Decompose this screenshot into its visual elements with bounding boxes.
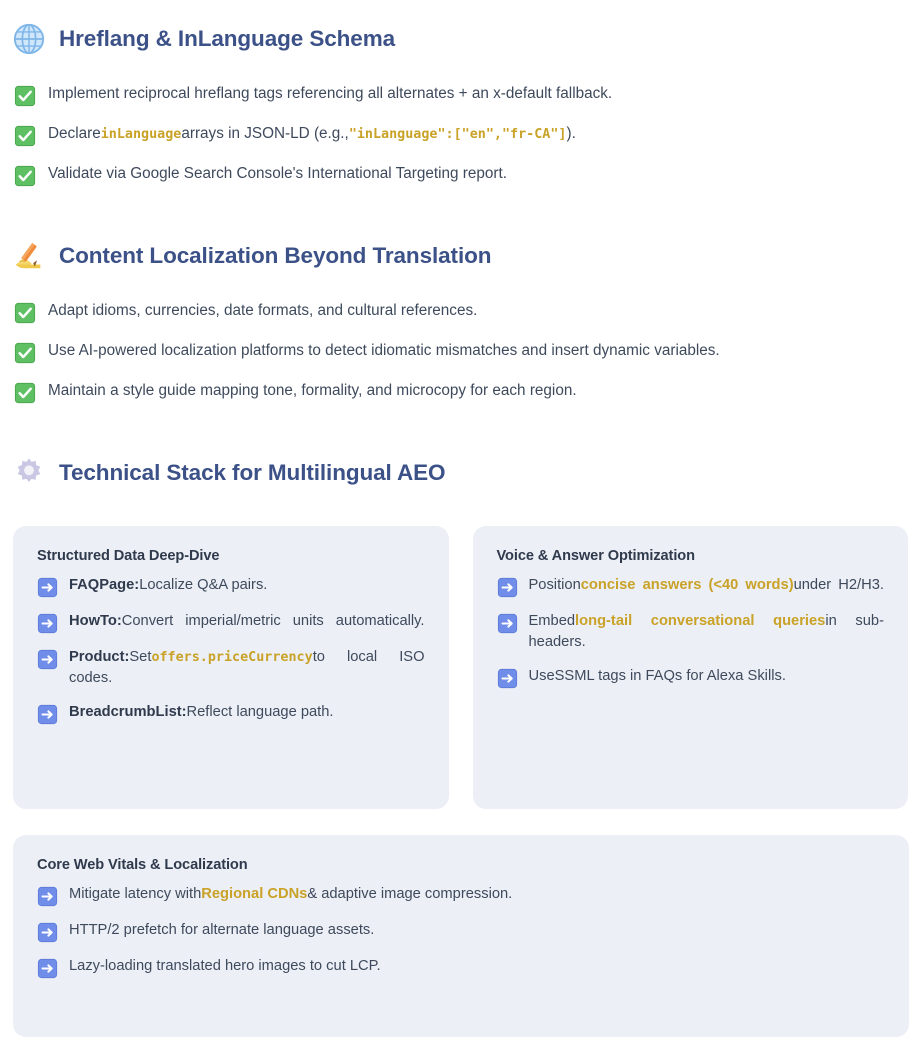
card-title: Structured Data Deep-Dive	[37, 548, 425, 564]
item-label: HowTo:	[69, 613, 122, 629]
check-mark-icon	[14, 125, 36, 147]
text-fragment: arrays in JSON-LD (e.g.,	[181, 125, 348, 142]
card-structured-data: Structured Data Deep-Dive FAQPage:Locali…	[13, 526, 449, 809]
arrow-right-icon	[497, 668, 518, 689]
list-item-label: Embedlong-tail conversational queriesin …	[529, 611, 885, 653]
gear-icon	[12, 456, 46, 490]
list-item-label: Validate via Google Search Console's Int…	[48, 164, 507, 185]
text-fragment: SSML tags in FAQs for Alexa Skills.	[555, 668, 786, 684]
check-mark-icon	[14, 342, 36, 364]
code-token: offers.priceCurrency	[151, 650, 312, 665]
list-item-label: Positionconcise answers (<40 words)under…	[529, 575, 885, 596]
list-item: Maintain a style guide mapping tone, for…	[0, 381, 921, 404]
list-item: Mitigate latency withRegional CDNs& adap…	[37, 884, 885, 907]
card-voice-answer-optimization: Voice & Answer Optimization Positionconc…	[473, 526, 909, 809]
list-item-label: HowTo:Convert imperial/metric units auto…	[69, 611, 425, 632]
document-body: Hreflang & InLanguage Schema Implement r…	[0, 8, 921, 1037]
text-fragment: Mitigate latency with	[69, 886, 201, 902]
card-title: Voice & Answer Optimization	[497, 548, 885, 564]
list-item: Implement reciprocal hreflang tags refer…	[0, 84, 921, 107]
section-title: Technical Stack for Multilingual AEO	[59, 461, 445, 486]
section-header-localization: Content Localization Beyond Translation	[0, 225, 921, 287]
list-item-label: BreadcrumbList:Reflect language path.	[69, 702, 425, 723]
list-item-label: Maintain a style guide mapping tone, for…	[48, 381, 577, 402]
item-text: Localize Q&A pairs.	[139, 577, 267, 593]
card-title: Core Web Vitals & Localization	[37, 857, 885, 873]
arrow-right-icon	[37, 577, 58, 598]
item-label: BreadcrumbList:	[69, 704, 187, 720]
checklist-localization: Adapt idioms, currencies, date formats, …	[0, 301, 921, 404]
highlight-text: long-tail conversational queries	[575, 613, 825, 629]
checklist-hreflang: Implement reciprocal hreflang tags refer…	[0, 84, 921, 187]
list-item: BreadcrumbList:Reflect language path.	[37, 702, 425, 725]
code-token: "inLanguage":["en","fr-CA"]	[349, 127, 567, 142]
arrow-right-icon	[37, 958, 58, 979]
list-item-label: DeclareinLanguagearrays in JSON-LD (e.g.…	[48, 124, 576, 145]
item-text: Reflect language path.	[187, 704, 334, 720]
text-fragment: ).	[566, 125, 575, 142]
list-item-label: Lazy-loading translated hero images to c…	[69, 956, 885, 977]
check-mark-icon	[14, 302, 36, 324]
list-item: Positionconcise answers (<40 words)under…	[497, 575, 885, 598]
list-item: Validate via Google Search Console's Int…	[0, 164, 921, 187]
list-item-label: UseSSML tags in FAQs for Alexa Skills.	[529, 666, 885, 687]
arrow-right-icon	[497, 613, 518, 634]
list-item-label: Use AI-powered localization platforms to…	[48, 341, 720, 362]
highlight-text: Regional CDNs	[201, 886, 307, 902]
list-item: Embedlong-tail conversational queriesin …	[497, 611, 885, 653]
list-item-label: Product:Setoffers.priceCurrencyto local …	[69, 647, 425, 689]
list-item-label: Adapt idioms, currencies, date formats, …	[48, 301, 477, 322]
highlight-text: concise answers (<40 words)	[581, 577, 794, 593]
arrow-right-icon	[37, 704, 58, 725]
card-core-web-vitals: Core Web Vitals & Localization Mitigate …	[13, 835, 909, 1037]
item-label: FAQPage:	[69, 577, 139, 593]
arrow-right-icon	[37, 886, 58, 907]
text-fragment: Declare	[48, 125, 101, 142]
check-mark-icon	[14, 85, 36, 107]
section-header-technical-stack: Technical Stack for Multilingual AEO	[0, 442, 921, 504]
list-item: FAQPage:Localize Q&A pairs.	[37, 575, 425, 598]
arrow-right-icon	[37, 649, 58, 670]
list-item: UseSSML tags in FAQs for Alexa Skills.	[497, 666, 885, 689]
text-fragment: Set	[129, 649, 151, 665]
text-fragment: under H2/H3.	[794, 577, 884, 593]
list-item: Adapt idioms, currencies, date formats, …	[0, 301, 921, 324]
text-fragment: Use	[529, 668, 555, 684]
item-text: Convert imperial/metric units automatica…	[122, 613, 425, 629]
list-item: Lazy-loading translated hero images to c…	[37, 956, 885, 979]
list-item-label: FAQPage:Localize Q&A pairs.	[69, 575, 425, 596]
list-item: DeclareinLanguagearrays in JSON-LD (e.g.…	[0, 124, 921, 147]
check-mark-icon	[14, 165, 36, 187]
list-item: HTTP/2 prefetch for alternate language a…	[37, 920, 885, 943]
text-fragment: Position	[529, 577, 581, 593]
card-row: Structured Data Deep-Dive FAQPage:Locali…	[0, 526, 921, 809]
check-mark-icon	[14, 382, 36, 404]
text-fragment: & adaptive image compression.	[307, 886, 512, 902]
arrow-right-icon	[37, 922, 58, 943]
globe-icon	[12, 22, 46, 56]
text-fragment: Embed	[529, 613, 576, 629]
item-label: Product:	[69, 649, 129, 665]
section-title: Content Localization Beyond Translation	[59, 244, 491, 269]
list-item: Product:Setoffers.priceCurrencyto local …	[37, 647, 425, 689]
list-item: HowTo:Convert imperial/metric units auto…	[37, 611, 425, 634]
writing-hand-icon	[12, 239, 46, 273]
list-item-label: HTTP/2 prefetch for alternate language a…	[69, 920, 885, 941]
code-token: inLanguage	[101, 127, 182, 142]
arrow-right-icon	[497, 577, 518, 598]
page-title: Hreflang & InLanguage Schema	[59, 27, 395, 52]
arrow-right-icon	[37, 613, 58, 634]
list-item-label: Mitigate latency withRegional CDNs& adap…	[69, 884, 885, 905]
section-header-hreflang: Hreflang & InLanguage Schema	[0, 8, 921, 70]
list-item-label: Implement reciprocal hreflang tags refer…	[48, 84, 612, 105]
list-item: Use AI-powered localization platforms to…	[0, 341, 921, 364]
